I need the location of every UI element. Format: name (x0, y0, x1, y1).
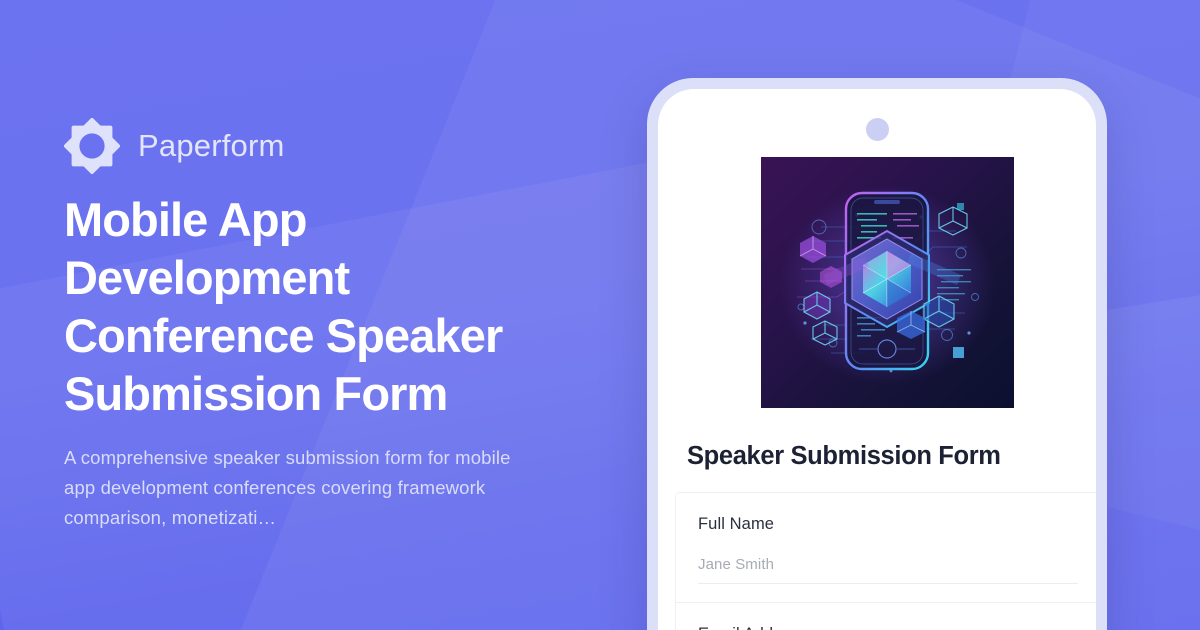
full-name-input[interactable]: Jane Smith (698, 556, 1078, 584)
phone-screen: Speaker Submission Form Full Name Jane S… (658, 89, 1096, 630)
field-label: Full Name (698, 515, 1078, 534)
field-label: Email Address (698, 625, 1078, 630)
page-title: Mobile App Development Conference Speake… (64, 191, 594, 423)
form-field-email-address[interactable]: Email Address (675, 602, 1096, 630)
form-title: Speaker Submission Form (687, 442, 1001, 471)
phone-mockup: Speaker Submission Form Full Name Jane S… (647, 78, 1107, 630)
paperform-star-logo-icon (64, 118, 120, 174)
page-description: A comprehensive speaker submission form … (64, 443, 532, 533)
brand-wordmark: Paperform (138, 128, 285, 164)
brand-lockup: Paperform (64, 118, 285, 174)
form-hero-image (761, 157, 1014, 408)
front-camera-dot-icon (866, 118, 889, 141)
social-share-card: Paperform Mobile App Development Confere… (0, 0, 1200, 630)
form-fields-list: Full Name Jane Smith Email Address (675, 492, 1096, 630)
left-content-panel: Paperform Mobile App Development Confere… (64, 0, 624, 630)
form-field-full-name[interactable]: Full Name Jane Smith (675, 492, 1096, 602)
